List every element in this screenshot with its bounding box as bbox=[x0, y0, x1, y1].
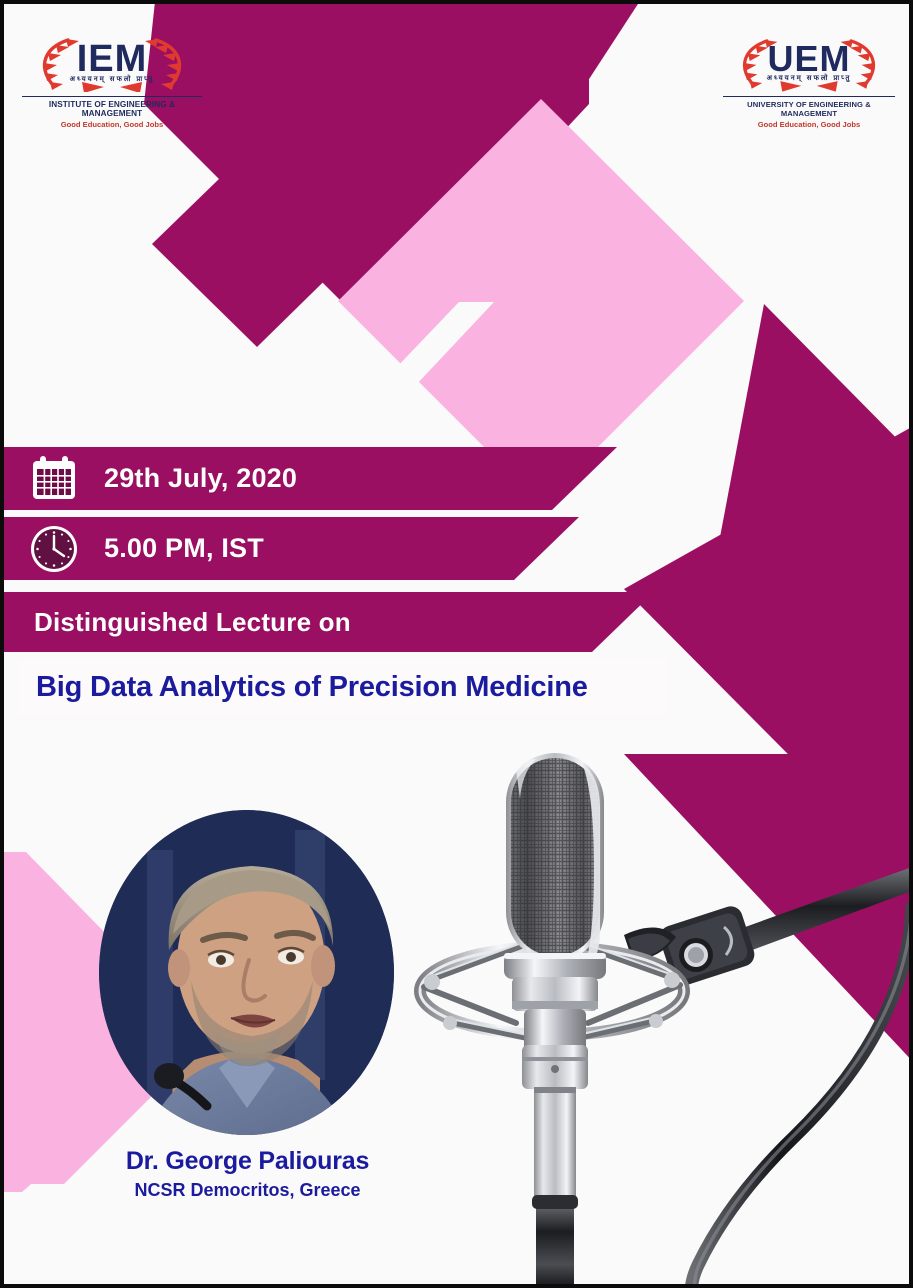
lecture-kicker-bar: Distinguished Lecture on bbox=[4, 592, 654, 652]
event-date-text: 29th July, 2020 bbox=[104, 463, 297, 494]
date-bar-content: 29th July, 2020 bbox=[4, 447, 297, 510]
time-bar-content: 5.00 PM, IST bbox=[4, 517, 264, 580]
mic-capsule bbox=[506, 753, 604, 975]
event-poster: IEM अध्ययनम् सफलो प्राप्तु INSTITUTE OF … bbox=[0, 0, 913, 1288]
lecture-title-content: Big Data Analytics of Precision Medicine bbox=[18, 659, 588, 716]
logo-iem-tagline: Good Education, Good Jobs bbox=[22, 120, 202, 129]
event-date-bar: 29th July, 2020 bbox=[4, 447, 617, 510]
calendar-icon bbox=[28, 453, 80, 505]
logo-uem-tagline: Good Education, Good Jobs bbox=[723, 120, 895, 129]
speaker-portrait bbox=[99, 810, 394, 1135]
mic-body bbox=[504, 953, 606, 1288]
laurel-wreath-icon bbox=[22, 32, 202, 92]
microphone-illustration bbox=[412, 739, 913, 1288]
event-time-text: 5.00 PM, IST bbox=[104, 533, 264, 564]
laurel-wreath-icon bbox=[723, 32, 895, 92]
clock-icon bbox=[28, 523, 80, 575]
lecture-title-text: Big Data Analytics of Precision Medicine bbox=[36, 671, 588, 704]
logo-iem-badge: IEM अध्ययनम् सफलो प्राप्तु bbox=[22, 32, 202, 92]
lecture-kicker-content: Distinguished Lecture on bbox=[4, 592, 351, 652]
lecture-title-bar: Big Data Analytics of Precision Medicine bbox=[18, 659, 668, 716]
logo-iem-fullname: INSTITUTE OF ENGINEERING & MANAGEMENT bbox=[22, 96, 202, 118]
logo-uem-fullname: UNIVERSITY OF ENGINEERING & MANAGEMENT bbox=[723, 96, 895, 118]
event-time-bar: 5.00 PM, IST bbox=[4, 517, 579, 580]
logo-iem: IEM अध्ययनम् सफलो प्राप्तु INSTITUTE OF … bbox=[22, 32, 202, 129]
lecture-kicker-text: Distinguished Lecture on bbox=[34, 607, 351, 638]
logo-uem: UEM अध्ययनम् सफलो प्राप्तु UNIVERSITY OF… bbox=[723, 32, 895, 129]
speaker-photo bbox=[99, 810, 394, 1135]
logo-uem-badge: UEM अध्ययनम् सफलो प्राप्तु bbox=[723, 32, 895, 92]
